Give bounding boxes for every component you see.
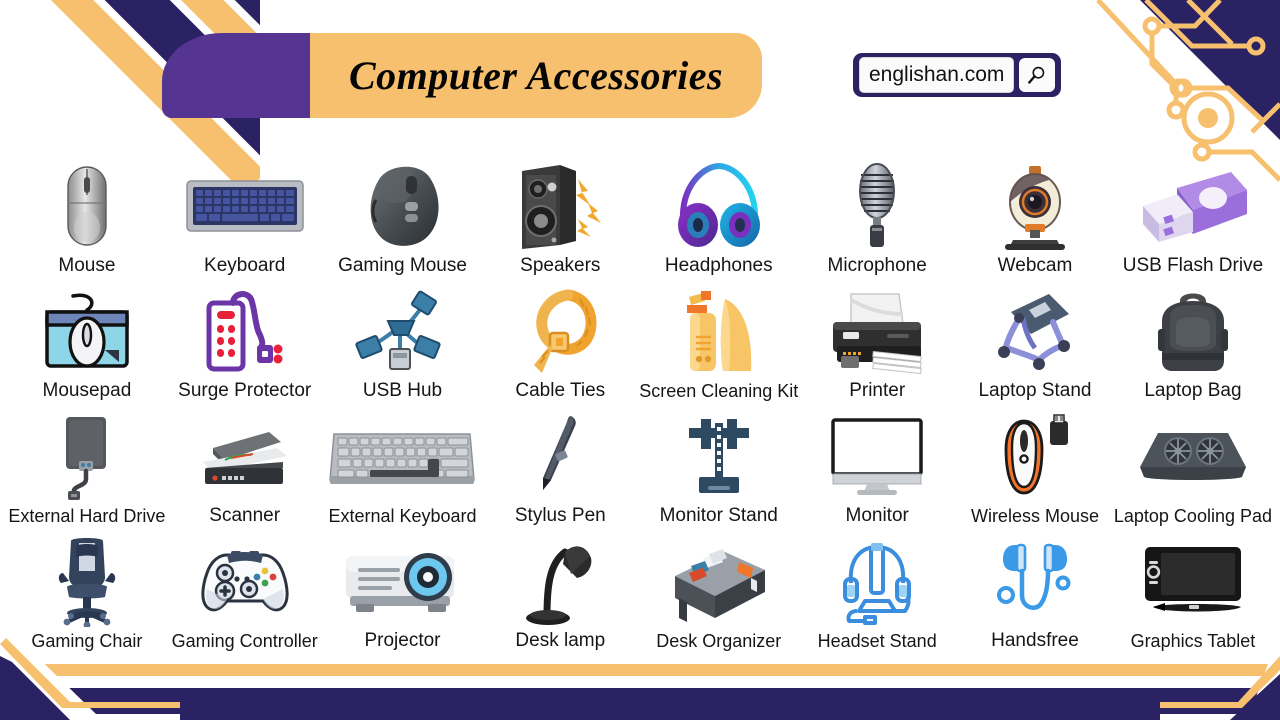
poster-canvas: Computer Accessories englishan.com	[0, 0, 1280, 720]
grid-item[interactable]: Keyboard	[166, 150, 324, 275]
item-label: Desk Organizer	[656, 632, 781, 650]
item-label: USB Hub	[363, 381, 442, 400]
grid-item[interactable]: Gaming Chair	[8, 525, 166, 650]
item-label: Gaming Mouse	[338, 256, 467, 275]
usb-flash-drive-icon	[1114, 160, 1272, 252]
grid-item[interactable]: USB Flash Drive	[1114, 150, 1272, 275]
bottom-orange-stripe	[0, 664, 1280, 676]
grid-item[interactable]: Surge Protector	[166, 275, 324, 400]
grid-item[interactable]: Laptop Cooling Pad	[1114, 400, 1272, 525]
desk-lamp-icon	[481, 535, 639, 627]
item-label: Headphones	[665, 256, 773, 275]
bottom-navy-bar	[0, 688, 1280, 720]
grid-item[interactable]: Gaming Mouse	[324, 150, 482, 275]
item-label: Handsfree	[991, 631, 1079, 650]
item-label: Gaming Controller	[172, 632, 318, 650]
grid-item[interactable]: Printer	[798, 275, 956, 400]
search-bar[interactable]: englishan.com	[853, 53, 1061, 97]
search-icon	[1026, 64, 1048, 86]
grid-item[interactable]: Mouse	[8, 150, 166, 275]
laptop-stand-icon	[956, 285, 1114, 377]
grid-item[interactable]: Desk lamp	[481, 525, 639, 650]
usb-hub-icon	[324, 285, 482, 377]
grid-item[interactable]: Speakers	[481, 150, 639, 275]
mousepad-icon	[8, 285, 166, 377]
item-label: External Keyboard	[328, 507, 476, 525]
keyboard-icon	[166, 160, 324, 252]
item-label: Projector	[364, 631, 440, 650]
grid-item[interactable]: Projector	[324, 525, 482, 650]
item-label: Scanner	[209, 506, 280, 525]
item-label: Laptop Bag	[1144, 381, 1241, 400]
grid-item[interactable]: Monitor Stand	[639, 400, 798, 525]
item-label: USB Flash Drive	[1123, 256, 1263, 275]
item-label: Microphone	[828, 256, 927, 275]
item-label: Monitor Stand	[660, 506, 778, 525]
surge-protector-icon	[166, 285, 324, 377]
grid-item[interactable]: USB Hub	[324, 275, 482, 400]
grid-item[interactable]: Laptop Stand	[956, 275, 1114, 400]
monitor-icon	[798, 410, 956, 502]
item-label: Mousepad	[43, 381, 132, 400]
item-label: Surge Protector	[178, 381, 311, 400]
item-label: Webcam	[998, 256, 1073, 275]
webcam-icon	[956, 160, 1114, 252]
desk-organizer-icon	[639, 536, 798, 628]
search-input[interactable]: englishan.com	[859, 57, 1014, 93]
gaming-mouse-icon	[324, 160, 482, 252]
projector-icon	[324, 535, 482, 627]
item-label: Wireless Mouse	[971, 507, 1099, 525]
item-label: Screen Cleaning Kit	[639, 382, 798, 400]
grid-item[interactable]: Scanner	[166, 400, 324, 525]
screen-cleaning-kit-icon	[639, 286, 798, 378]
headset-stand-icon	[798, 536, 956, 628]
grid-item[interactable]: Headset Stand	[798, 525, 956, 650]
item-label: Desk lamp	[515, 631, 605, 650]
grid-item[interactable]: Microphone	[798, 150, 956, 275]
headphones-icon	[639, 160, 798, 252]
search-button[interactable]	[1019, 58, 1055, 92]
item-label: Graphics Tablet	[1131, 632, 1256, 650]
grid-item[interactable]: Cable Ties	[481, 275, 639, 400]
grid-item[interactable]: Mousepad	[8, 275, 166, 400]
mouse-icon	[8, 160, 166, 252]
external-keyboard-icon	[324, 411, 482, 503]
printer-icon	[798, 285, 956, 377]
stylus-pen-icon	[481, 410, 639, 502]
grid-item[interactable]: Gaming Controller	[166, 525, 324, 650]
item-label: Speakers	[520, 256, 600, 275]
gaming-controller-icon	[166, 536, 324, 628]
wireless-mouse-icon	[956, 411, 1114, 503]
accessories-grid: Mouse	[8, 150, 1272, 650]
item-label: Printer	[849, 381, 905, 400]
handsfree-icon	[956, 535, 1114, 627]
grid-item[interactable]: Monitor	[798, 400, 956, 525]
scanner-icon	[166, 410, 324, 502]
external-hard-drive-icon	[8, 411, 166, 503]
item-label: External Hard Drive	[8, 507, 165, 525]
grid-item[interactable]: Stylus Pen	[481, 400, 639, 525]
grid-item[interactable]: Desk Organizer	[639, 525, 798, 650]
laptop-bag-icon	[1114, 285, 1272, 377]
item-label: Keyboard	[204, 256, 285, 275]
microphone-icon	[798, 160, 956, 252]
item-label: Mouse	[58, 256, 115, 275]
grid-item[interactable]: Wireless Mouse	[956, 400, 1114, 525]
item-label: Cable Ties	[515, 381, 605, 400]
grid-item[interactable]: External Hard Drive	[8, 400, 166, 525]
grid-item[interactable]: Laptop Bag	[1114, 275, 1272, 400]
item-label: Monitor	[846, 506, 909, 525]
laptop-cooling-pad-icon	[1114, 411, 1272, 503]
item-label: Stylus Pen	[515, 506, 606, 525]
grid-item[interactable]: Graphics Tablet	[1114, 525, 1272, 650]
grid-item[interactable]: Webcam	[956, 150, 1114, 275]
grid-item[interactable]: Handsfree	[956, 525, 1114, 650]
item-label: Laptop Cooling Pad	[1114, 507, 1272, 525]
gaming-chair-icon	[8, 536, 166, 628]
item-label: Gaming Chair	[31, 632, 142, 650]
grid-item[interactable]: External Keyboard	[324, 400, 482, 525]
grid-item[interactable]: Screen Cleaning Kit	[639, 275, 798, 400]
item-label: Headset Stand	[818, 632, 937, 650]
page-title: Computer Accessories	[310, 33, 762, 118]
grid-item[interactable]: Headphones	[639, 150, 798, 275]
title-banner: Computer Accessories	[162, 33, 762, 118]
item-label: Laptop Stand	[978, 381, 1091, 400]
monitor-stand-icon	[639, 410, 798, 502]
cable-ties-icon	[481, 285, 639, 377]
graphics-tablet-icon	[1114, 536, 1272, 628]
speakers-icon	[481, 160, 639, 252]
